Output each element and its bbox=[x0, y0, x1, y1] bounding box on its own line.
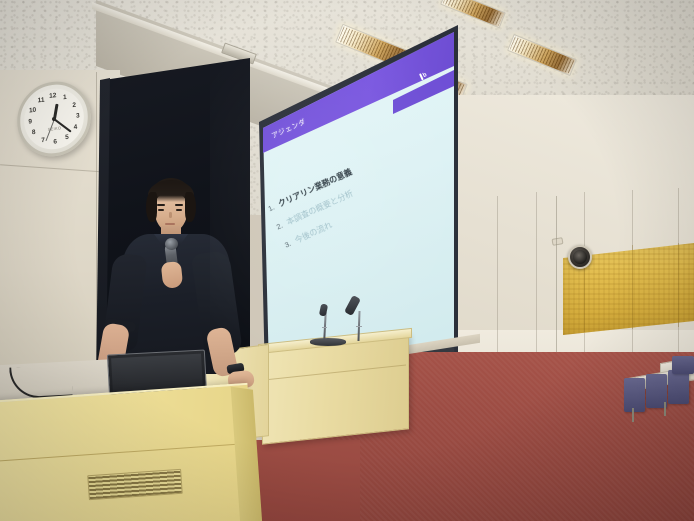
presenter-brow-right bbox=[175, 204, 183, 206]
presenter-nose bbox=[169, 212, 172, 218]
clock-numeral: 11 bbox=[37, 96, 44, 104]
chair-3 bbox=[668, 370, 689, 404]
clock-numeral: 7 bbox=[41, 137, 45, 144]
projection-screen: アジェンダ b 1. クリアリン業務の意義 2. 本調査の概要と分析 3. 今後… bbox=[243, 22, 458, 382]
clock-numeral: 5 bbox=[65, 134, 69, 141]
clock-numeral: 3 bbox=[76, 112, 80, 119]
photo-scene: 12 1 2 3 4 5 6 7 8 9 10 11 SEIKO アジェンダ b bbox=[0, 0, 694, 521]
clock-numeral: 8 bbox=[32, 129, 36, 136]
microphone-ring-1 bbox=[322, 327, 327, 328]
clock-numeral: 10 bbox=[29, 106, 37, 114]
clock-numeral: 2 bbox=[72, 101, 76, 108]
microphone-base bbox=[310, 338, 346, 346]
clock-face: 12 1 2 3 4 5 6 7 8 9 10 11 SEIKO bbox=[23, 85, 86, 152]
chair-4 bbox=[672, 356, 694, 374]
clock-numeral: 12 bbox=[49, 92, 57, 100]
gold-panel-seam-2 bbox=[632, 245, 633, 329]
round-ceiling-speaker bbox=[568, 245, 592, 269]
chair-1 bbox=[624, 378, 645, 412]
presenter-brow-left bbox=[157, 204, 165, 206]
agenda-item-text: 今後の流れ bbox=[294, 221, 334, 245]
clock-numeral: 6 bbox=[53, 139, 57, 146]
clock-numeral: 1 bbox=[63, 93, 67, 100]
gold-panel-seam-3 bbox=[678, 243, 679, 327]
microphone-ring-2 bbox=[356, 326, 362, 327]
presenter-hair-right bbox=[185, 192, 196, 222]
presenter-mouth bbox=[165, 223, 175, 225]
clock-numeral: 4 bbox=[73, 124, 77, 131]
clock-numeral: 9 bbox=[28, 118, 32, 125]
table-leg-1 bbox=[632, 408, 634, 422]
presenter-hair-left bbox=[146, 192, 157, 222]
table-leg-2 bbox=[664, 402, 666, 416]
presenter-eye-left bbox=[158, 209, 164, 211]
presenter-eye-right bbox=[176, 209, 182, 211]
